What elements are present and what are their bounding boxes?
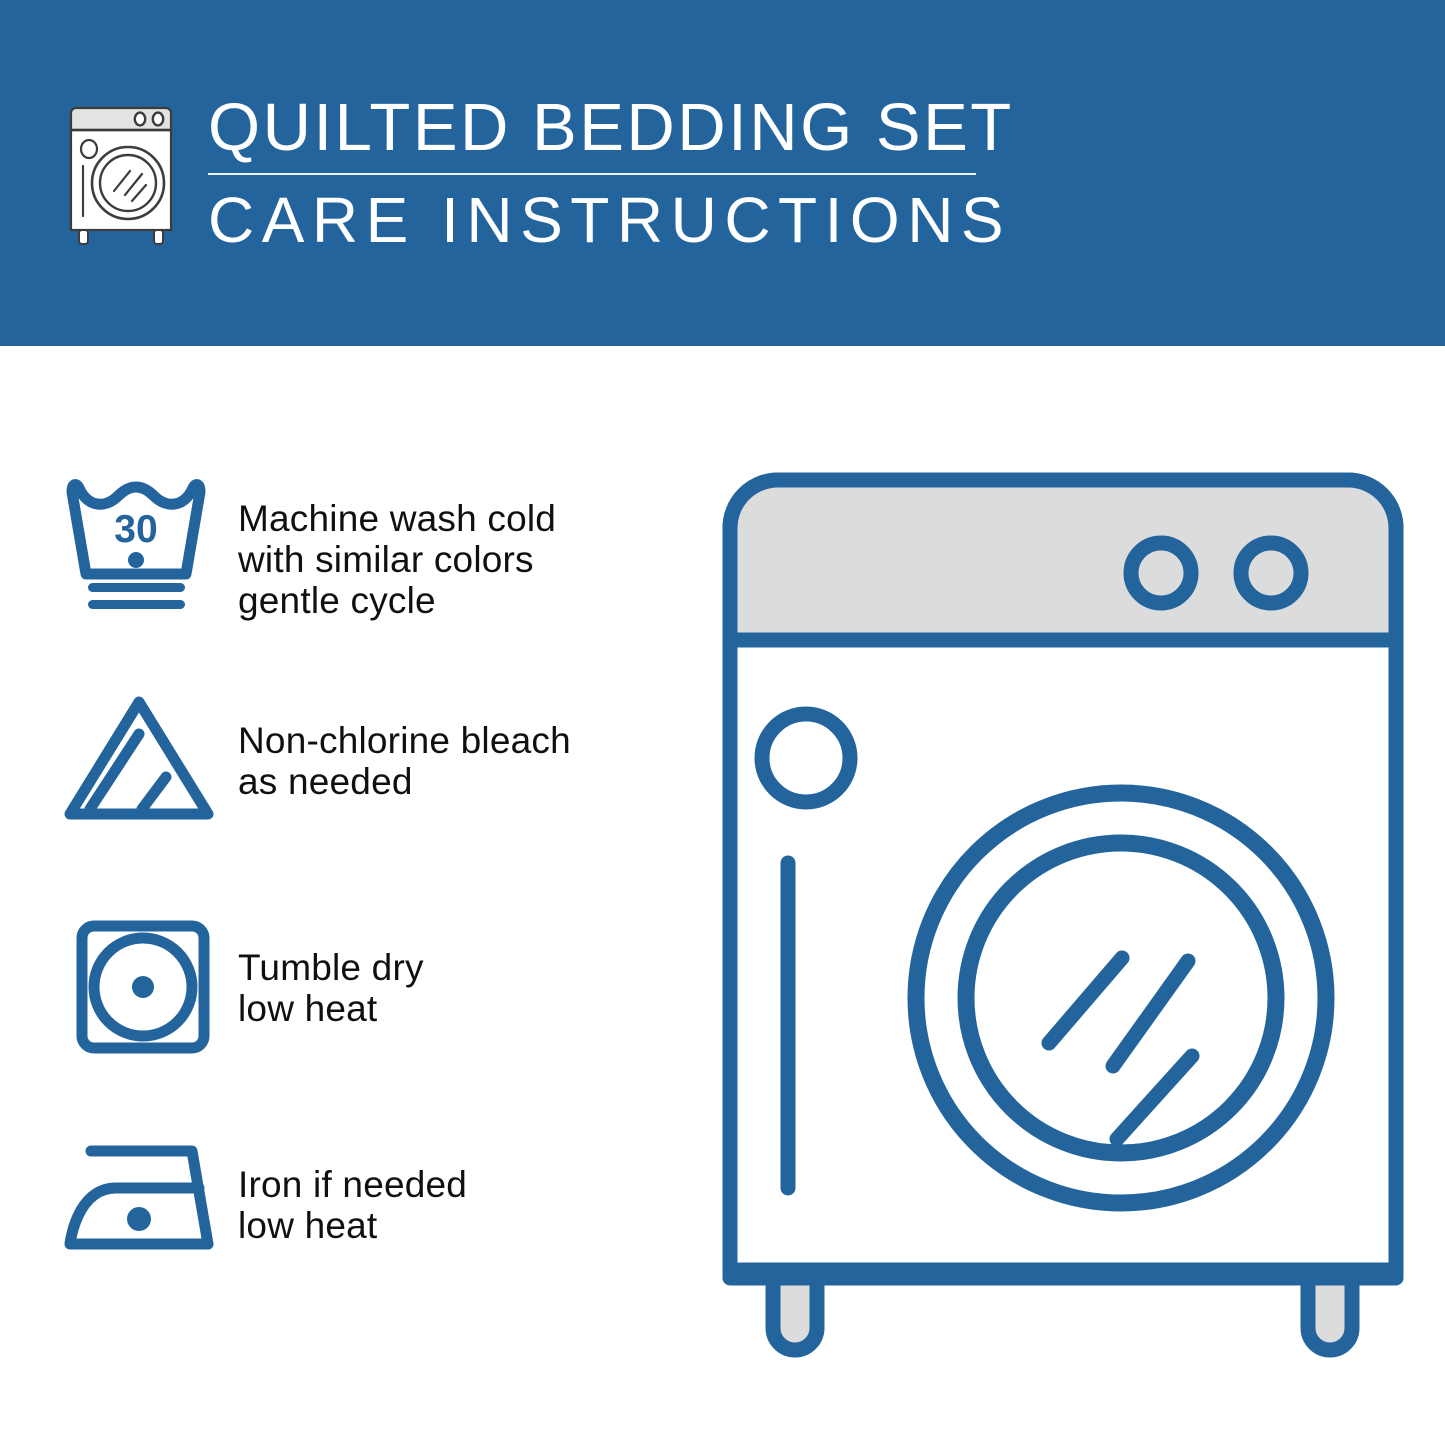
instruction-icon-slot: 30 <box>60 470 238 620</box>
list-item: 30 Machine wash cold with similar colors… <box>60 470 710 692</box>
instruction-icon-slot <box>60 914 238 1059</box>
wash-tub-30-gentle-icon: 30 <box>60 470 230 620</box>
instruction-text: Machine wash cold with similar colors ge… <box>238 470 710 621</box>
page-subtitle: CARE INSTRUCTIONS <box>208 185 1014 255</box>
tumble-dry-low-heat-icon <box>60 914 230 1059</box>
instruction-icon-slot <box>60 1136 238 1266</box>
care-instruction-list: 30 Machine wash cold with similar colors… <box>60 470 710 1358</box>
instruction-icon-slot <box>60 692 238 832</box>
header-banner: QUILTED BEDDING SET CARE INSTRUCTIONS <box>0 0 1445 346</box>
svg-text:30: 30 <box>114 508 157 551</box>
leg-right <box>1308 1278 1352 1350</box>
list-item: Tumble dry low heat <box>60 914 710 1136</box>
header-text-block: QUILTED BEDDING SET CARE INSTRUCTIONS <box>208 91 1014 255</box>
non-chlorine-bleach-triangle-icon <box>60 692 230 832</box>
instruction-text: Non-chlorine bleach as needed <box>238 692 710 802</box>
dial-left-icon[interactable] <box>1131 543 1191 603</box>
dial-right-icon[interactable] <box>1241 543 1301 603</box>
page-title: QUILTED BEDDING SET <box>208 91 1014 165</box>
list-item: Non-chlorine bleach as needed <box>60 692 710 914</box>
instruction-text: Tumble dry low heat <box>238 914 710 1029</box>
iron-low-heat-icon <box>60 1136 235 1266</box>
leg-left <box>773 1278 817 1350</box>
header-divider <box>208 173 976 175</box>
care-instructions-page: QUILTED BEDDING SET CARE INSTRUCTIONS 30 <box>0 0 1445 1445</box>
washing-machine-icon <box>62 98 180 248</box>
washing-machine-illustration <box>718 468 1408 1378</box>
detergent-port-icon <box>762 714 850 802</box>
drum-inner-ring <box>966 843 1276 1153</box>
instruction-text: Iron if needed low heat <box>238 1136 710 1246</box>
list-item: Iron if needed low heat <box>60 1136 710 1358</box>
header-content: QUILTED BEDDING SET CARE INSTRUCTIONS <box>0 0 1445 346</box>
